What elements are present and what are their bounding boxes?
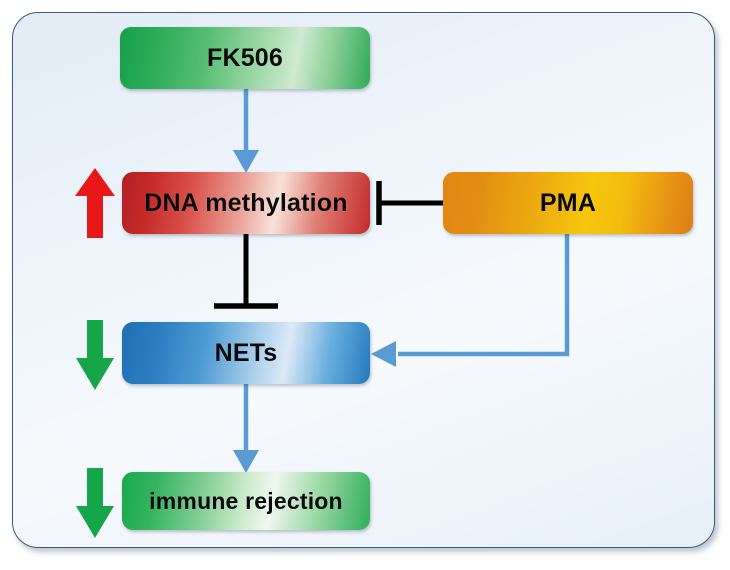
- node-immune-rejection-label: immune rejection: [149, 488, 343, 515]
- node-fk506-label: FK506: [207, 44, 283, 73]
- node-dna-methylation[interactable]: DNA methylation: [122, 172, 370, 234]
- node-dna-methylation-label: DNA methylation: [144, 189, 347, 218]
- node-fk506[interactable]: FK506: [120, 27, 370, 89]
- node-nets[interactable]: NETs: [122, 322, 370, 384]
- node-pma[interactable]: PMA: [443, 172, 693, 234]
- node-pma-label: PMA: [540, 189, 596, 218]
- node-immune-rejection[interactable]: immune rejection: [122, 472, 370, 530]
- down-arrow-icon-nets: [72, 318, 118, 392]
- up-arrow-icon-dna-methylation: [72, 166, 118, 240]
- down-arrow-icon-immune-rejection: [72, 466, 118, 540]
- node-nets-label: NETs: [215, 339, 278, 368]
- diagram-canvas: FK506 DNA methylation PMA NETs immune re…: [0, 0, 730, 570]
